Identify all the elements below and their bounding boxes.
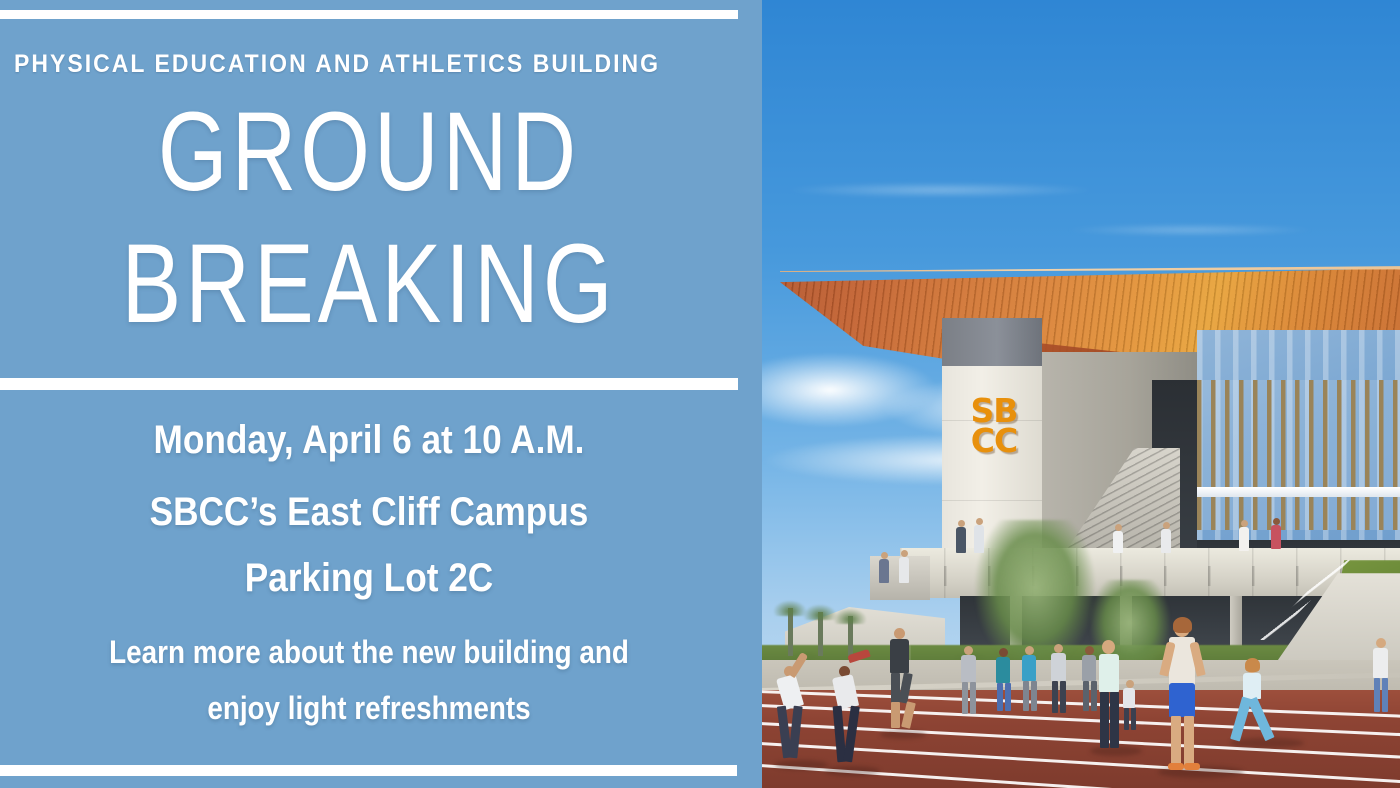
event-note-line-2: enjoy light refreshments xyxy=(48,692,690,724)
person-leg xyxy=(1091,681,1097,711)
building-rendering-image: SB CC xyxy=(760,0,1400,788)
divider-rule-middle xyxy=(0,378,738,390)
pylon-upper-panel xyxy=(942,318,1042,366)
person-head xyxy=(1376,638,1386,648)
person-shadow xyxy=(824,766,880,776)
person-standing-foreground xyxy=(1158,620,1206,770)
person-head xyxy=(964,646,973,655)
palm-fronds xyxy=(803,604,837,620)
person-torso xyxy=(996,657,1010,683)
person-torso xyxy=(1373,648,1388,678)
person-head xyxy=(1126,680,1134,688)
person-leg xyxy=(1110,692,1119,748)
palm-fronds xyxy=(833,608,867,624)
person-torso xyxy=(832,674,859,710)
person-walking xyxy=(884,628,918,732)
person-torso xyxy=(1161,529,1171,553)
groundbreaking-poster: SB CC xyxy=(0,0,1400,788)
person-hair xyxy=(1245,658,1260,672)
person-on-terrace xyxy=(972,518,988,554)
person-torso xyxy=(899,557,909,583)
headline-line-1: GROUND xyxy=(74,96,664,208)
person-head xyxy=(1025,646,1034,655)
person-head xyxy=(1085,646,1094,655)
person-leg xyxy=(788,706,802,759)
divider-rule-top xyxy=(0,10,738,19)
person-leg xyxy=(1083,681,1089,711)
person-background xyxy=(1018,646,1042,714)
palm-fronds xyxy=(773,600,807,616)
person-torso xyxy=(961,655,976,682)
person-torso xyxy=(1099,654,1119,692)
person-leg xyxy=(1374,678,1380,712)
person-torso xyxy=(1123,688,1135,708)
person-leg xyxy=(997,683,1003,711)
headline-line-2: BREAKING xyxy=(74,228,664,340)
person-leg xyxy=(962,682,968,714)
person-on-terrace xyxy=(1270,518,1284,550)
person-head xyxy=(1115,524,1122,531)
person-head xyxy=(1163,522,1170,529)
person-lunging xyxy=(1232,660,1284,744)
event-location-campus: SBCC’s East Cliff Campus xyxy=(44,492,693,532)
person-leg xyxy=(1124,708,1129,730)
text-panel: PHYSICAL EDUCATION AND ATHLETICS BUILDIN… xyxy=(0,0,762,788)
event-date-time: Monday, April 6 at 10 A.M. xyxy=(44,420,693,460)
person-head xyxy=(901,550,908,557)
person-hair xyxy=(1173,617,1192,633)
person-on-terrace xyxy=(954,520,970,554)
person-torso xyxy=(776,674,804,710)
person-leg xyxy=(1247,697,1274,741)
person-torso xyxy=(1239,527,1249,551)
person-head xyxy=(999,648,1008,657)
person-background xyxy=(956,646,982,718)
person-background xyxy=(1046,644,1072,716)
person-leg xyxy=(843,706,860,763)
person-leg xyxy=(1171,716,1181,766)
person-on-platform xyxy=(898,550,912,584)
person-shin xyxy=(891,702,900,728)
person-head xyxy=(1273,518,1280,525)
event-note-line-1: Learn more about the new building and xyxy=(48,636,690,668)
person-leg xyxy=(1184,716,1194,766)
person-torso xyxy=(890,639,909,673)
person-torso xyxy=(1022,655,1036,681)
sbcc-logo-line2: CC xyxy=(956,426,1032,456)
person-on-stair xyxy=(1368,638,1394,714)
person-shorts xyxy=(1169,683,1195,717)
cirrus-wisps xyxy=(760,150,1400,270)
person-background xyxy=(1078,646,1102,714)
person-head xyxy=(1241,520,1248,527)
person-leg xyxy=(1382,678,1388,712)
person-on-terrace xyxy=(1160,522,1174,554)
person-stretching xyxy=(778,650,812,762)
person-leg xyxy=(1023,681,1029,711)
person-torso xyxy=(974,525,984,553)
person-torso xyxy=(1082,655,1096,681)
person-arm xyxy=(788,652,809,678)
person-torso xyxy=(1271,525,1281,549)
person-head xyxy=(1054,644,1063,653)
person-leg xyxy=(1005,683,1011,711)
person-head xyxy=(958,520,965,527)
person-on-terrace xyxy=(1112,524,1126,554)
balcony-rail xyxy=(1197,487,1400,497)
person-torso xyxy=(956,527,966,553)
sbcc-logo: SB CC xyxy=(956,396,1032,457)
person-on-platform xyxy=(878,552,892,584)
person-leg xyxy=(1131,708,1136,730)
person-torso xyxy=(1051,653,1066,681)
person-head xyxy=(894,628,905,639)
person-shin xyxy=(901,701,916,728)
person-leg xyxy=(1052,681,1058,713)
divider-rule-bottom xyxy=(0,765,737,776)
event-location-lot: Parking Lot 2C xyxy=(44,558,693,598)
person-head xyxy=(1102,640,1115,654)
person-shoe xyxy=(1168,763,1184,770)
person-head xyxy=(976,518,983,525)
person-shoe xyxy=(1184,763,1200,770)
person-leg xyxy=(1031,681,1037,711)
eyebrow-label: PHYSICAL EDUCATION AND ATHLETICS BUILDIN… xyxy=(14,50,660,79)
pylon-seam xyxy=(942,500,1042,501)
timber-louvers xyxy=(1197,380,1400,530)
person-leg xyxy=(898,672,913,703)
person-arm xyxy=(847,649,870,663)
person-leg xyxy=(970,682,976,714)
person-torso xyxy=(1113,531,1123,553)
person-stretching xyxy=(830,648,870,766)
person-leg xyxy=(1060,681,1066,713)
person-torso xyxy=(1243,673,1261,699)
person-torso xyxy=(879,559,889,583)
person-background xyxy=(992,648,1016,714)
person-on-terrace xyxy=(1238,520,1252,552)
person-background xyxy=(1120,680,1140,732)
person-head xyxy=(881,552,888,559)
